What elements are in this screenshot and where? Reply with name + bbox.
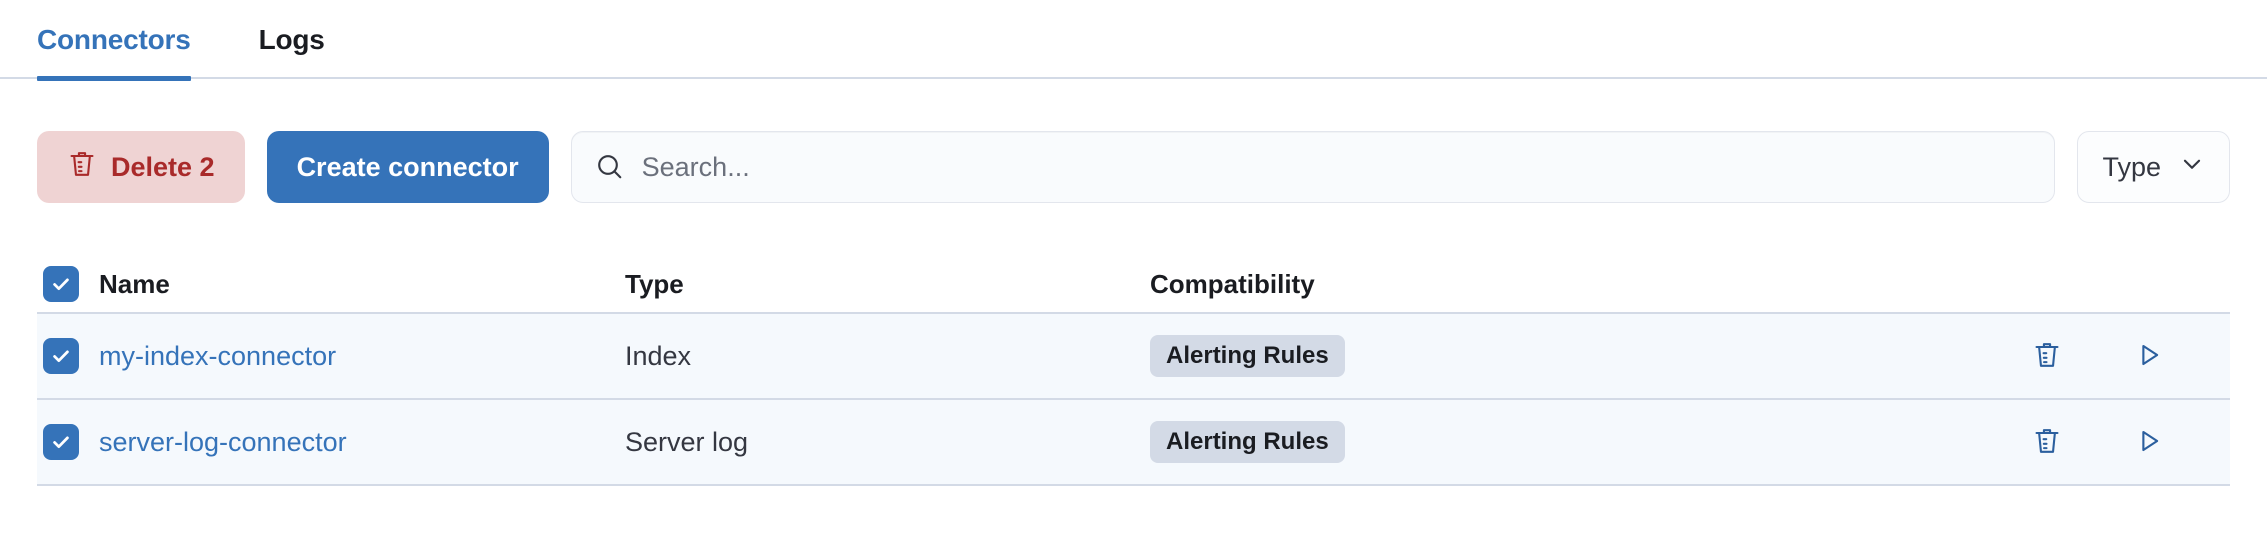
- row-actions-cell: [1995, 420, 2230, 464]
- row-compatibility-cell: Alerting Rules: [1150, 421, 1995, 463]
- connectors-table: Name Type Compatibility my-index-connect…: [37, 256, 2230, 486]
- connector-name-link[interactable]: my-index-connector: [99, 341, 336, 371]
- search-icon: [594, 151, 626, 183]
- search-input[interactable]: [642, 132, 2055, 202]
- row-actions-cell: [1995, 334, 2230, 378]
- trash-icon: [2032, 425, 2062, 460]
- toolbar: Delete 2 Create connector Type: [37, 131, 2230, 203]
- search-field[interactable]: [571, 131, 2056, 203]
- row-compatibility-cell: Alerting Rules: [1150, 335, 1995, 377]
- run-row-button[interactable]: [2127, 334, 2171, 378]
- row-checkbox[interactable]: [43, 338, 79, 374]
- table-row[interactable]: server-log-connector Server log Alerting…: [37, 400, 2230, 486]
- trash-icon: [2032, 339, 2062, 374]
- run-icon: [2134, 340, 2164, 373]
- row-select-cell: [37, 424, 95, 460]
- create-connector-button[interactable]: Create connector: [267, 131, 549, 203]
- tab-logs-label: Logs: [259, 24, 325, 56]
- trash-icon: [67, 148, 97, 187]
- table-header-row: Name Type Compatibility: [37, 256, 2230, 314]
- connectors-page: Connectors Logs Delete 2 Create connecto…: [0, 0, 2267, 537]
- status-badge: Alerting Rules: [1150, 421, 1345, 463]
- type-filter-dropdown[interactable]: Type: [2077, 131, 2230, 203]
- tab-bar: Connectors Logs: [0, 0, 2267, 79]
- chevron-down-icon: [2179, 151, 2205, 184]
- delete-button[interactable]: Delete 2: [37, 131, 245, 203]
- run-icon: [2134, 426, 2164, 459]
- row-type-cell: Server log: [625, 427, 1150, 458]
- select-all-checkbox[interactable]: [43, 266, 79, 302]
- select-all-cell: [37, 266, 95, 302]
- row-name-cell: my-index-connector: [95, 341, 625, 372]
- tab-logs[interactable]: Logs: [243, 0, 341, 79]
- row-checkbox[interactable]: [43, 424, 79, 460]
- delete-row-button[interactable]: [2025, 420, 2069, 464]
- run-row-button[interactable]: [2127, 420, 2171, 464]
- table-row[interactable]: my-index-connector Index Alerting Rules: [37, 314, 2230, 400]
- connector-name-link[interactable]: server-log-connector: [99, 427, 347, 457]
- row-select-cell: [37, 338, 95, 374]
- type-filter-label: Type: [2102, 152, 2161, 183]
- column-header-type[interactable]: Type: [625, 269, 1150, 300]
- tab-connectors[interactable]: Connectors: [37, 0, 207, 79]
- row-name-cell: server-log-connector: [95, 427, 625, 458]
- status-badge: Alerting Rules: [1150, 335, 1345, 377]
- delete-row-button[interactable]: [2025, 334, 2069, 378]
- tab-connectors-label: Connectors: [37, 24, 191, 56]
- column-header-name[interactable]: Name: [95, 269, 625, 300]
- create-connector-label: Create connector: [297, 152, 519, 183]
- column-header-compatibility[interactable]: Compatibility: [1150, 269, 1995, 300]
- row-type-cell: Index: [625, 341, 1150, 372]
- delete-button-label: Delete 2: [111, 152, 215, 183]
